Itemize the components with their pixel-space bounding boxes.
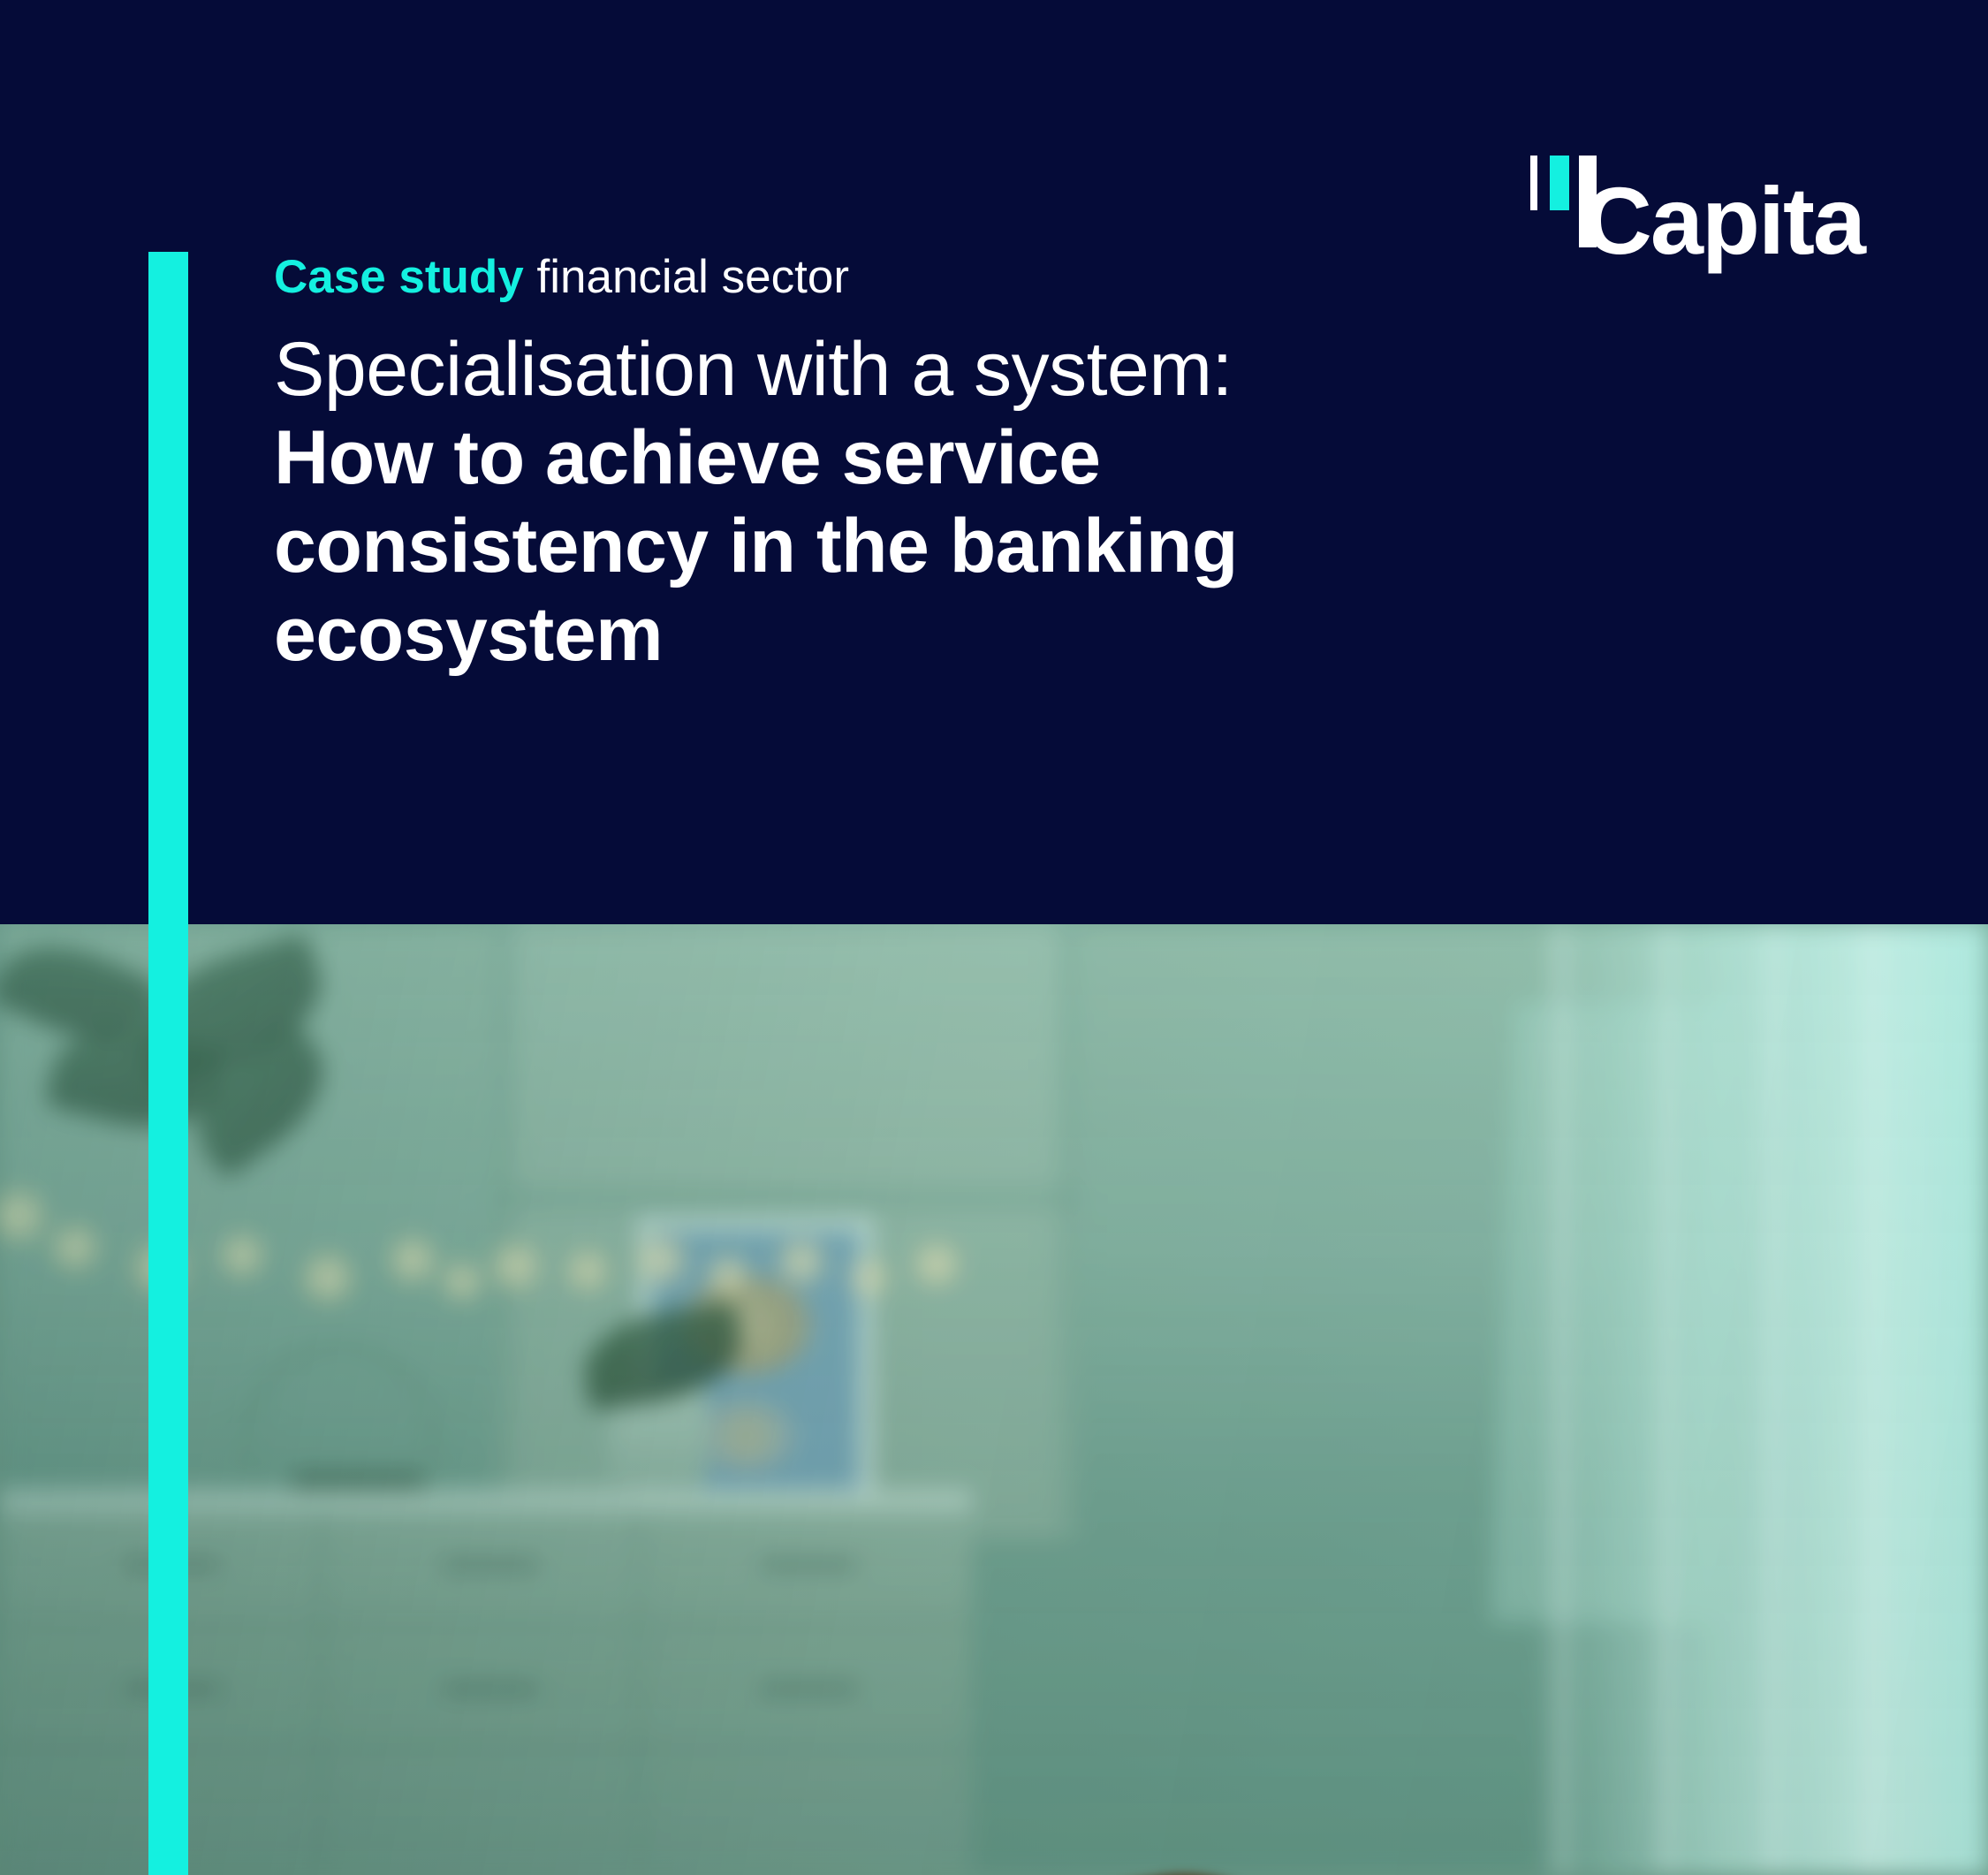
case-study-cover: Capita Case study financial sector Speci… bbox=[0, 0, 1988, 1875]
headline-line-2: How to achieve service bbox=[274, 414, 1688, 503]
eyebrow-line: Case study financial sector bbox=[274, 252, 1688, 303]
photo-foreground-layer bbox=[0, 923, 1988, 1875]
headline-line-4: ecosystem bbox=[274, 591, 1688, 679]
eyebrow-accent-text: Case study bbox=[274, 251, 524, 303]
capita-logo[interactable]: Capita bbox=[1530, 156, 1864, 247]
hero-photo bbox=[0, 923, 1988, 1875]
cover-copy: Case study financial sector Specialisati… bbox=[274, 252, 1688, 679]
hero-photo-scene bbox=[0, 923, 1988, 1875]
capita-bars-mark-icon bbox=[1530, 156, 1585, 247]
eyebrow-plain-text: financial sector bbox=[524, 251, 849, 303]
headline-line-1: Specialisation with a system: bbox=[274, 326, 1688, 414]
headline-line-3: consistency in the banking bbox=[274, 503, 1688, 591]
page-title: Specialisation with a system: How to ach… bbox=[274, 326, 1688, 679]
logo-bar-thin-white bbox=[1530, 156, 1537, 210]
vertical-accent-bar bbox=[148, 252, 188, 1875]
logo-bar-cyan bbox=[1550, 156, 1569, 210]
